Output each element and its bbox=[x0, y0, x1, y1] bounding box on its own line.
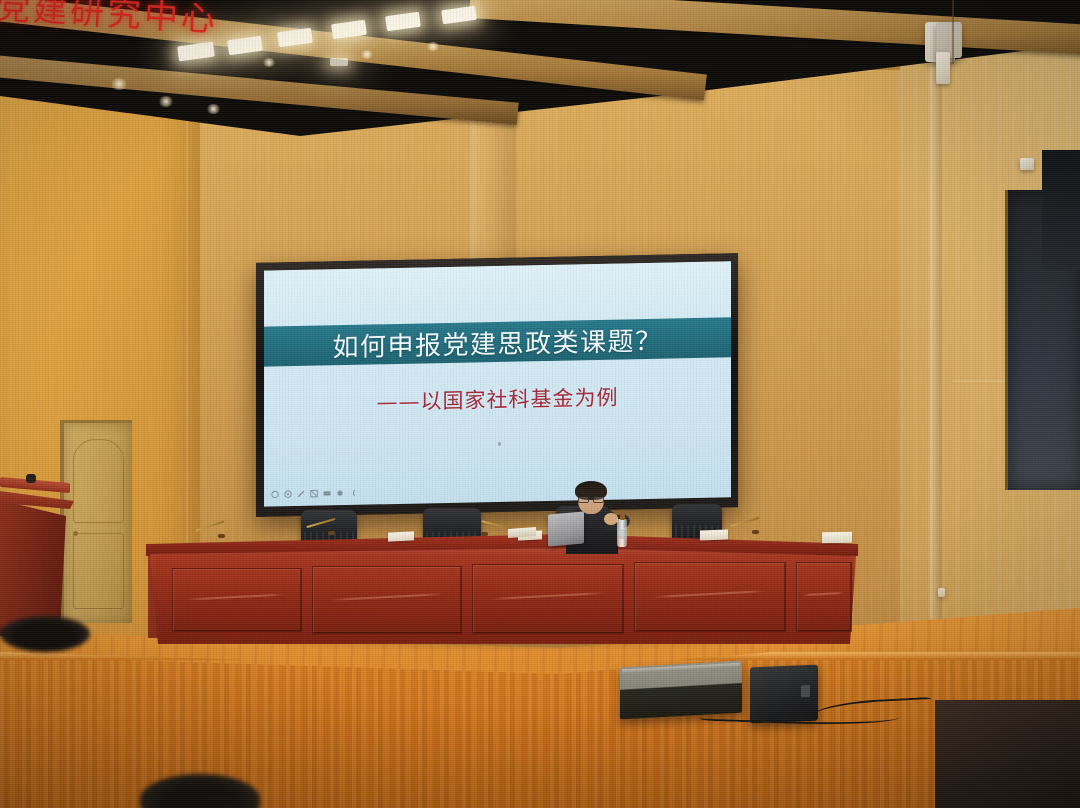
ceiling-downlight bbox=[206, 104, 221, 114]
screen-icon[interactable] bbox=[323, 489, 331, 497]
gear-icon[interactable] bbox=[284, 490, 292, 498]
table-panel bbox=[472, 564, 624, 634]
table-panel bbox=[634, 562, 786, 632]
presenter-hand bbox=[604, 513, 618, 525]
wall-outlet-plate bbox=[1020, 158, 1034, 170]
ceiling-downlight bbox=[426, 42, 440, 51]
stage-right-equipment bbox=[935, 700, 1080, 808]
projection-screen-surface[interactable]: 如何申报党建思政类课题？ ——以国家社科基金为例 bbox=[264, 261, 731, 506]
microphone-base bbox=[481, 532, 488, 536]
ceiling-downlight bbox=[110, 78, 128, 90]
ceiling-downlight bbox=[360, 50, 374, 59]
audience-head bbox=[0, 616, 90, 652]
pointer-icon[interactable] bbox=[349, 489, 357, 497]
projection-screen-frame: 如何申报党建思政类课题？ ——以国家社科基金为例 bbox=[256, 253, 738, 517]
right-upper-dark-panel bbox=[1042, 150, 1080, 270]
speaker-podium bbox=[0, 500, 66, 632]
slide-grid-icon[interactable] bbox=[310, 490, 318, 498]
place-name-card bbox=[388, 531, 414, 541]
table-panel bbox=[312, 566, 462, 634]
place-name-card bbox=[700, 530, 728, 541]
door-panel-lower bbox=[73, 533, 124, 609]
table-panel bbox=[172, 568, 302, 632]
ceiling-downlight bbox=[158, 96, 174, 107]
door-knob-icon[interactable] bbox=[73, 531, 78, 536]
microphone-base bbox=[218, 534, 225, 538]
podium-microphone bbox=[26, 474, 36, 483]
wall-cable bbox=[952, 0, 954, 64]
mouse-cursor-icon bbox=[498, 442, 501, 446]
slide-top-band bbox=[264, 261, 731, 326]
presenter-laptop[interactable] bbox=[548, 511, 584, 546]
more-options-icon[interactable] bbox=[336, 489, 344, 497]
place-name-card bbox=[822, 532, 852, 544]
wall-plate bbox=[936, 52, 950, 84]
microphone-base bbox=[752, 530, 759, 534]
table-panel bbox=[796, 562, 852, 632]
slide-subtitle: ——以国家社科基金为例 bbox=[264, 379, 731, 418]
slide-title: 如何申报党建思政类课题？ bbox=[332, 320, 662, 364]
ceiling-downlight bbox=[262, 58, 276, 67]
highlighter-icon[interactable] bbox=[297, 490, 305, 498]
door-panel-upper bbox=[73, 439, 124, 523]
microphone-base bbox=[328, 531, 335, 535]
ceiling-light bbox=[330, 58, 348, 66]
water-bottle[interactable] bbox=[617, 519, 627, 547]
powerpoint-presenter-toolbar[interactable] bbox=[271, 489, 357, 499]
stage-side-door[interactable] bbox=[60, 420, 132, 623]
wall-pilaster bbox=[930, 48, 942, 648]
bottle-label bbox=[617, 529, 627, 539]
photo-scene: 党建研究中心 如何申报党建思政类课题？ ——以国家社科基金为例 bbox=[0, 0, 1080, 808]
wall-seam bbox=[186, 120, 188, 590]
slide-title-band: 如何申报党建思政类课题？ bbox=[264, 317, 731, 366]
wall-outlet-plate bbox=[938, 588, 945, 597]
pen-icon[interactable] bbox=[271, 490, 279, 498]
glasses-icon bbox=[578, 495, 604, 501]
